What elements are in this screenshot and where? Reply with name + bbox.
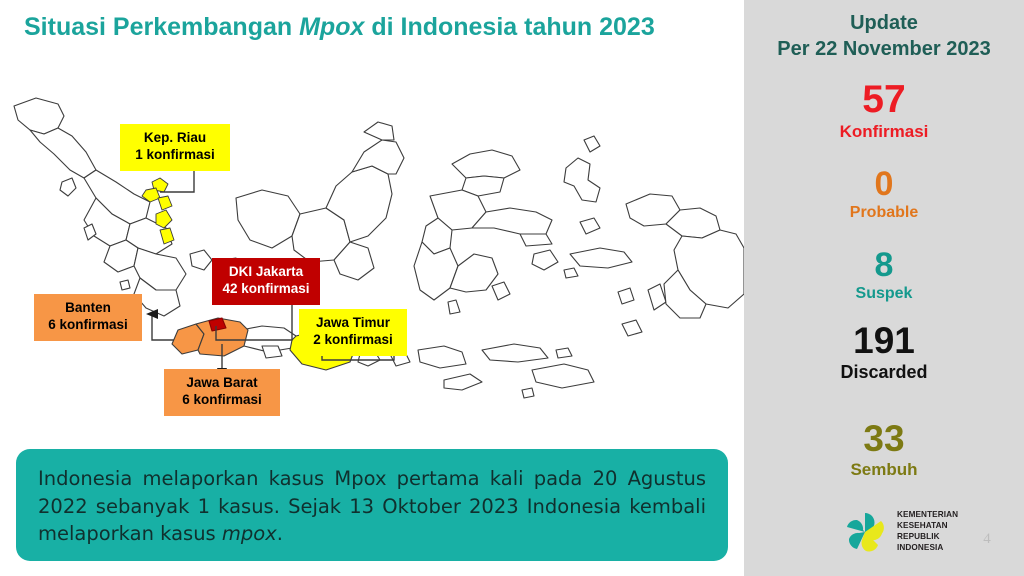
callout-kepulauan-riau[interactable]: Kep. Riau 1 konfirmasi	[120, 124, 230, 171]
region-island-tanimbar	[622, 320, 642, 336]
callout-province-name: DKI Jakarta	[220, 264, 312, 281]
stat-suspek-label: Suspek	[744, 286, 1024, 302]
narrative-sentence: Indonesia melaporkan kasus Mpox pertama …	[38, 467, 706, 545]
region-island-seram	[570, 248, 632, 268]
region-island-aru	[648, 284, 666, 310]
region-kalbar	[236, 190, 300, 248]
region-sulut	[452, 150, 520, 178]
page-number: 4	[973, 531, 1001, 548]
logo-petals	[847, 513, 884, 551]
stat-probable: 0 Probable	[744, 167, 1024, 221]
stat-konfirmasi: 57 Konfirmasi	[744, 80, 1024, 140]
stat-probable-label: Probable	[744, 205, 1024, 221]
slide-root: Situasi Perkembangan Mpox di Indonesia t…	[0, 0, 1024, 576]
region-island-halmahera	[564, 158, 600, 202]
region-island-sumbawa	[418, 346, 466, 368]
callout-jawa-timur[interactable]: Jawa Timur 2 konfirmasi	[299, 309, 407, 356]
region-island-kei	[618, 288, 634, 304]
region-island-timor	[532, 364, 594, 388]
narrative-callout-box: Indonesia melaporkan kasus Mpox pertama …	[16, 449, 728, 561]
kemenkes-wordmark: KEMENTERIAN KESEHATAN REPUBLIK INDONESIA	[897, 510, 958, 553]
page-title-part2: di Indonesia tahun 2023	[364, 13, 654, 41]
stat-discarded-value: 191	[744, 322, 1024, 359]
indonesia-map-svg	[0, 78, 744, 440]
region-kepulauan-riau-c	[158, 196, 172, 210]
callout-case-count: 6 konfirmasi	[42, 317, 134, 334]
callout-case-count: 6 konfirmasi	[172, 392, 272, 409]
stat-sembuh-value: 33	[744, 420, 1024, 457]
region-island-nias	[60, 178, 76, 196]
logo-line-1: KEMENTERIAN	[897, 510, 958, 521]
narrative-text: Indonesia melaporkan kasus Mpox pertama …	[38, 465, 706, 548]
region-island-flores	[482, 344, 548, 362]
region-island-enggano	[120, 280, 130, 290]
region-island-obi	[580, 218, 600, 234]
region-island-selayar	[448, 300, 460, 314]
callout-case-count: 2 konfirmasi	[307, 332, 399, 349]
region-island-buton	[492, 282, 510, 300]
left-content-panel: Situasi Perkembangan Mpox di Indonesia t…	[0, 0, 744, 576]
region-island-ambon	[564, 268, 578, 278]
stat-konfirmasi-label: Konfirmasi	[744, 123, 1024, 140]
stat-suspek-value: 8	[744, 248, 1024, 282]
region-island-sula	[520, 234, 552, 246]
callout-province-name: Jawa Barat	[172, 375, 272, 392]
indonesia-map	[0, 78, 744, 440]
region-island-morotai	[584, 136, 600, 152]
region-kal-north-tip	[364, 122, 394, 140]
update-header: Update Per 22 November 2023	[744, 10, 1024, 62]
region-island-sumba	[444, 374, 482, 390]
stat-discarded-label: Discarded	[744, 363, 1024, 381]
update-header-line1: Update	[744, 10, 1024, 36]
callout-province-name: Banten	[42, 300, 134, 317]
update-sidebar: Update Per 22 November 2023 57 Konfirmas…	[744, 0, 1024, 576]
stat-suspek: 8 Suspek	[744, 248, 1024, 302]
region-island-rote	[522, 388, 534, 398]
stat-probable-value: 0	[744, 167, 1024, 201]
stat-sembuh: 33 Sembuh	[744, 420, 1024, 478]
callout-province-name: Kep. Riau	[128, 130, 222, 147]
page-title-part1: Situasi Perkembangan	[24, 13, 299, 41]
narrative-period: .	[277, 522, 283, 545]
region-sultenggara	[450, 254, 498, 292]
leader-banten	[152, 314, 174, 340]
logo-line-4: INDONESIA	[897, 543, 958, 554]
callout-dki-jakarta[interactable]: DKI Jakarta 42 konfirmasi	[212, 258, 320, 305]
region-sumatra-bangka	[190, 250, 212, 270]
region-island-alor	[556, 348, 572, 358]
region-kalutara	[352, 140, 404, 174]
logo-line-2: KESEHATAN	[897, 521, 958, 532]
region-kepulauan-riau-d	[156, 210, 172, 228]
stat-discarded: 191 Discarded	[744, 322, 1024, 381]
stat-konfirmasi-value: 57	[744, 80, 1024, 119]
region-sumatra-north	[30, 128, 96, 178]
callout-case-count: 42 konfirmasi	[220, 281, 312, 298]
narrative-mpox-italic: mpox	[222, 522, 277, 545]
kemenkes-logo-mark-icon	[840, 507, 890, 557]
region-diy	[262, 346, 282, 358]
page-title-mpox: Mpox	[299, 13, 364, 41]
callout-case-count: 1 konfirmasi	[128, 147, 222, 164]
region-island-buru	[532, 250, 558, 270]
callout-province-name: Jawa Timur	[307, 315, 399, 332]
page-title: Situasi Perkembangan Mpox di Indonesia t…	[24, 14, 724, 42]
logo-line-3: REPUBLIK	[897, 532, 958, 543]
update-header-line2: Per 22 November 2023	[744, 36, 1024, 62]
petal-left-teal	[847, 520, 865, 532]
stat-sembuh-label: Sembuh	[744, 461, 1024, 478]
callout-banten[interactable]: Banten 6 konfirmasi	[34, 294, 142, 341]
callout-jawa-barat[interactable]: Jawa Barat 6 konfirmasi	[164, 369, 280, 416]
